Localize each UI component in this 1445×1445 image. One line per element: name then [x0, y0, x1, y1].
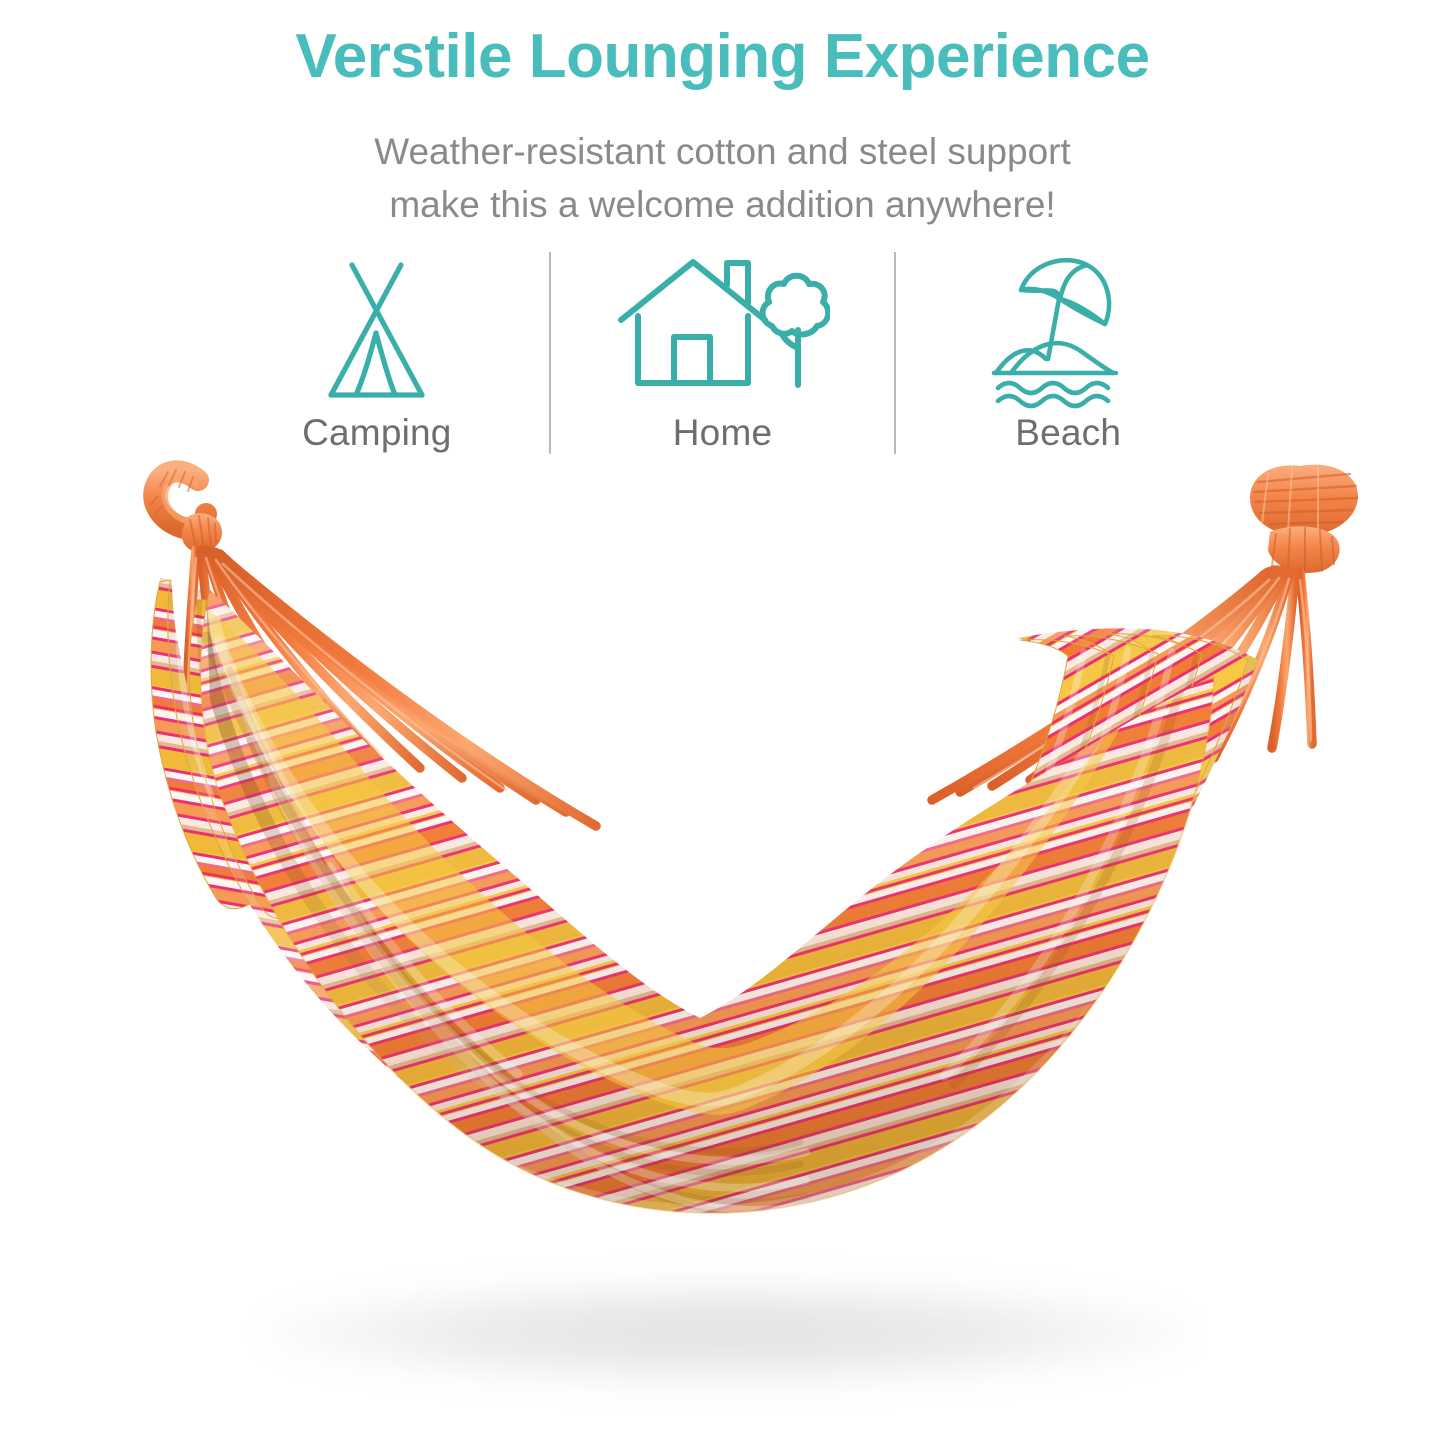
- feature-home: Home: [551, 248, 895, 470]
- use-case-row: Camping: [205, 248, 1240, 470]
- feature-beach: Beach: [896, 248, 1240, 470]
- beach-umbrella-icon: [986, 248, 1151, 410]
- product-image: [0, 440, 1445, 1445]
- hammock-illustration: [0, 440, 1445, 1445]
- house-tree-icon: [615, 248, 830, 410]
- subtitle-line-1: Weather-resistant cotton and steel suppo…: [0, 126, 1445, 179]
- page-title: Verstile Lounging Experience: [0, 24, 1445, 89]
- product-infographic: Verstile Lounging Experience Weather-res…: [0, 0, 1445, 1445]
- feature-camping: Camping: [205, 248, 549, 470]
- page-subtitle: Weather-resistant cotton and steel suppo…: [0, 126, 1445, 231]
- subtitle-line-2: make this a welcome addition anywhere!: [0, 179, 1445, 232]
- tent-icon: [294, 248, 459, 410]
